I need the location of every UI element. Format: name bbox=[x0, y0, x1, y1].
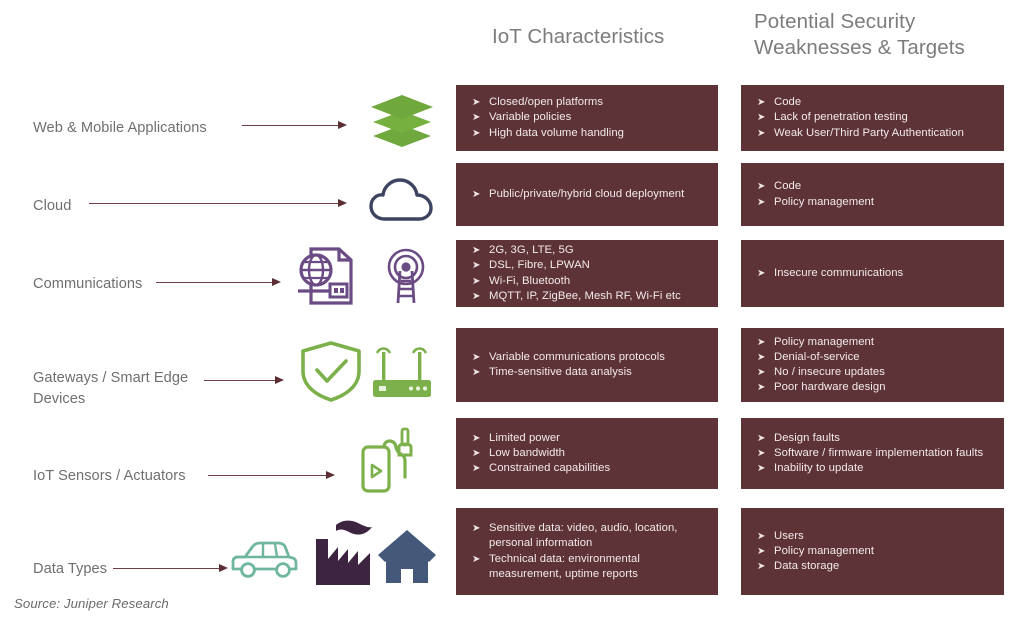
list-item: ➤ Users bbox=[757, 529, 990, 544]
list-item: ➤ Sensitive data: video, audio, location… bbox=[472, 521, 704, 551]
list-item: ➤ Time-sensitive data analysis bbox=[472, 365, 704, 380]
list-item: ➤ Constrained capabilities bbox=[472, 461, 704, 476]
bullet-icon: ➤ bbox=[472, 461, 489, 476]
weaknesses-box-row-1: ➤ Code ➤ Lack of penetration testing ➤ W… bbox=[741, 85, 1004, 151]
bullet-icon: ➤ bbox=[472, 274, 489, 289]
shield-check-icon bbox=[299, 340, 363, 402]
bullet-icon: ➤ bbox=[757, 365, 774, 380]
list-item: ➤ High data volume handling bbox=[472, 126, 704, 141]
column-header-iot-characteristics: IoT Characteristics bbox=[492, 24, 732, 50]
bullet-icon: ➤ bbox=[472, 258, 489, 273]
bullet-icon: ➤ bbox=[472, 110, 489, 125]
list-item: ➤ Policy management bbox=[757, 335, 990, 350]
bullet-icon: ➤ bbox=[757, 95, 774, 110]
arrow-data-types bbox=[113, 563, 228, 573]
list-item: ➤ DSL, Fibre, LPWAN bbox=[472, 258, 704, 273]
list-item: ➤ Design faults bbox=[757, 431, 990, 446]
bullet-icon: ➤ bbox=[472, 552, 489, 567]
bullet-icon: ➤ bbox=[757, 195, 774, 210]
sensor-probe-icon bbox=[359, 425, 425, 497]
bullet-icon: ➤ bbox=[757, 380, 774, 395]
list-item: ➤ Technical data: environmental measurem… bbox=[472, 552, 704, 582]
source-note: Source: Juniper Research bbox=[14, 596, 169, 611]
list-item: ➤ Policy management bbox=[757, 195, 990, 210]
list-item: ➤ 2G, 3G, LTE, 5G bbox=[472, 243, 704, 258]
bullet-icon: ➤ bbox=[472, 289, 489, 304]
row-label-web-mobile-applications: Web & Mobile Applications bbox=[33, 118, 233, 139]
globe-document-icon bbox=[294, 245, 356, 307]
bullet-icon: ➤ bbox=[757, 461, 774, 476]
list-item: ➤ Poor hardware design bbox=[757, 380, 990, 395]
bullet-icon: ➤ bbox=[472, 187, 489, 202]
bullet-icon: ➤ bbox=[472, 243, 489, 258]
bullet-icon: ➤ bbox=[757, 110, 774, 125]
bullet-icon: ➤ bbox=[472, 431, 489, 446]
characteristics-box-row-3: ➤ 2G, 3G, LTE, 5G ➤ DSL, Fibre, LPWAN ➤ … bbox=[456, 240, 718, 307]
weaknesses-box-row-4: ➤ Policy management ➤ Denial-of-service … bbox=[741, 328, 1004, 402]
weaknesses-box-row-2: ➤ Code ➤ Policy management bbox=[741, 163, 1004, 226]
bullet-icon: ➤ bbox=[472, 350, 489, 365]
list-item: ➤ Closed/open platforms bbox=[472, 95, 704, 110]
factory-icon bbox=[314, 519, 374, 587]
characteristics-box-row-4: ➤ Variable communications protocols ➤ Ti… bbox=[456, 328, 718, 402]
list-item: ➤ Public/private/hybrid cloud deployment bbox=[472, 187, 704, 202]
list-item: ➤ Variable communications protocols bbox=[472, 350, 704, 365]
list-item: ➤ Policy management bbox=[757, 544, 990, 559]
cloud-icon bbox=[369, 175, 435, 223]
weaknesses-box-row-6: ➤ Users ➤ Policy management ➤ Data stora… bbox=[741, 508, 1004, 595]
bullet-icon: ➤ bbox=[757, 559, 774, 574]
weaknesses-box-row-5: ➤ Design faults ➤ Software / firmware im… bbox=[741, 418, 1004, 489]
arrow-gateways bbox=[204, 375, 284, 385]
row-label-gateways-smart-edge-devices: Gateways / Smart Edge Devices bbox=[33, 368, 218, 410]
car-icon bbox=[229, 539, 299, 581]
list-item: ➤ Low bandwidth bbox=[472, 446, 704, 461]
arrow-cloud bbox=[89, 198, 347, 208]
list-item: ➤ Lack of penetration testing bbox=[757, 110, 990, 125]
list-item: ➤ No / insecure updates bbox=[757, 365, 990, 380]
list-item: ➤ Inability to update bbox=[757, 461, 990, 476]
bullet-icon: ➤ bbox=[757, 431, 774, 446]
router-icon bbox=[369, 344, 435, 400]
row-label-iot-sensors-actuators: IoT Sensors / Actuators bbox=[33, 466, 223, 487]
list-item: ➤ Denial-of-service bbox=[757, 350, 990, 365]
arrow-iot-sensors bbox=[208, 470, 335, 480]
arrow-web-mobile-applications bbox=[242, 120, 347, 130]
bullet-icon: ➤ bbox=[757, 350, 774, 365]
bullet-icon: ➤ bbox=[757, 179, 774, 194]
list-item: ➤ Software / firmware implementation fau… bbox=[757, 446, 990, 461]
bullet-icon: ➤ bbox=[472, 365, 489, 380]
list-item: ➤ Data storage bbox=[757, 559, 990, 574]
bullet-icon: ➤ bbox=[757, 446, 774, 461]
bullet-icon: ➤ bbox=[757, 544, 774, 559]
bullet-icon: ➤ bbox=[757, 529, 774, 544]
list-item: ➤ Insecure communications bbox=[757, 266, 990, 281]
layers-icon bbox=[369, 92, 435, 148]
column-header-security-weaknesses: Potential Security Weaknesses & Targets bbox=[754, 9, 1004, 61]
list-item: ➤ Wi-Fi, Bluetooth bbox=[472, 274, 704, 289]
row-label-communications: Communications bbox=[33, 274, 173, 295]
arrow-communications bbox=[156, 277, 281, 287]
characteristics-box-row-1: ➤ Closed/open platforms ➤ Variable polic… bbox=[456, 85, 718, 151]
bullet-icon: ➤ bbox=[472, 446, 489, 461]
cell-tower-icon bbox=[378, 247, 434, 305]
bullet-icon: ➤ bbox=[472, 521, 489, 536]
bullet-icon: ➤ bbox=[472, 95, 489, 110]
house-icon bbox=[376, 526, 438, 586]
list-item: ➤ MQTT, IP, ZigBee, Mesh RF, Wi-Fi etc bbox=[472, 289, 704, 304]
bullet-icon: ➤ bbox=[472, 126, 489, 141]
bullet-icon: ➤ bbox=[757, 266, 774, 281]
bullet-icon: ➤ bbox=[757, 335, 774, 350]
weaknesses-box-row-3: ➤ Insecure communications bbox=[741, 240, 1004, 307]
list-item: ➤ Code bbox=[757, 179, 990, 194]
list-item: ➤ Variable policies bbox=[472, 110, 704, 125]
list-item: ➤ Code bbox=[757, 95, 990, 110]
characteristics-box-row-5: ➤ Limited power ➤ Low bandwidth ➤ Constr… bbox=[456, 418, 718, 489]
characteristics-box-row-6: ➤ Sensitive data: video, audio, location… bbox=[456, 508, 718, 595]
bullet-icon: ➤ bbox=[757, 126, 774, 141]
diagram-canvas: IoT Characteristics Potential Security W… bbox=[0, 0, 1024, 632]
characteristics-box-row-2: ➤ Public/private/hybrid cloud deployment bbox=[456, 163, 718, 226]
list-item: ➤ Weak User/Third Party Authentication bbox=[757, 126, 990, 141]
list-item: ➤ Limited power bbox=[472, 431, 704, 446]
